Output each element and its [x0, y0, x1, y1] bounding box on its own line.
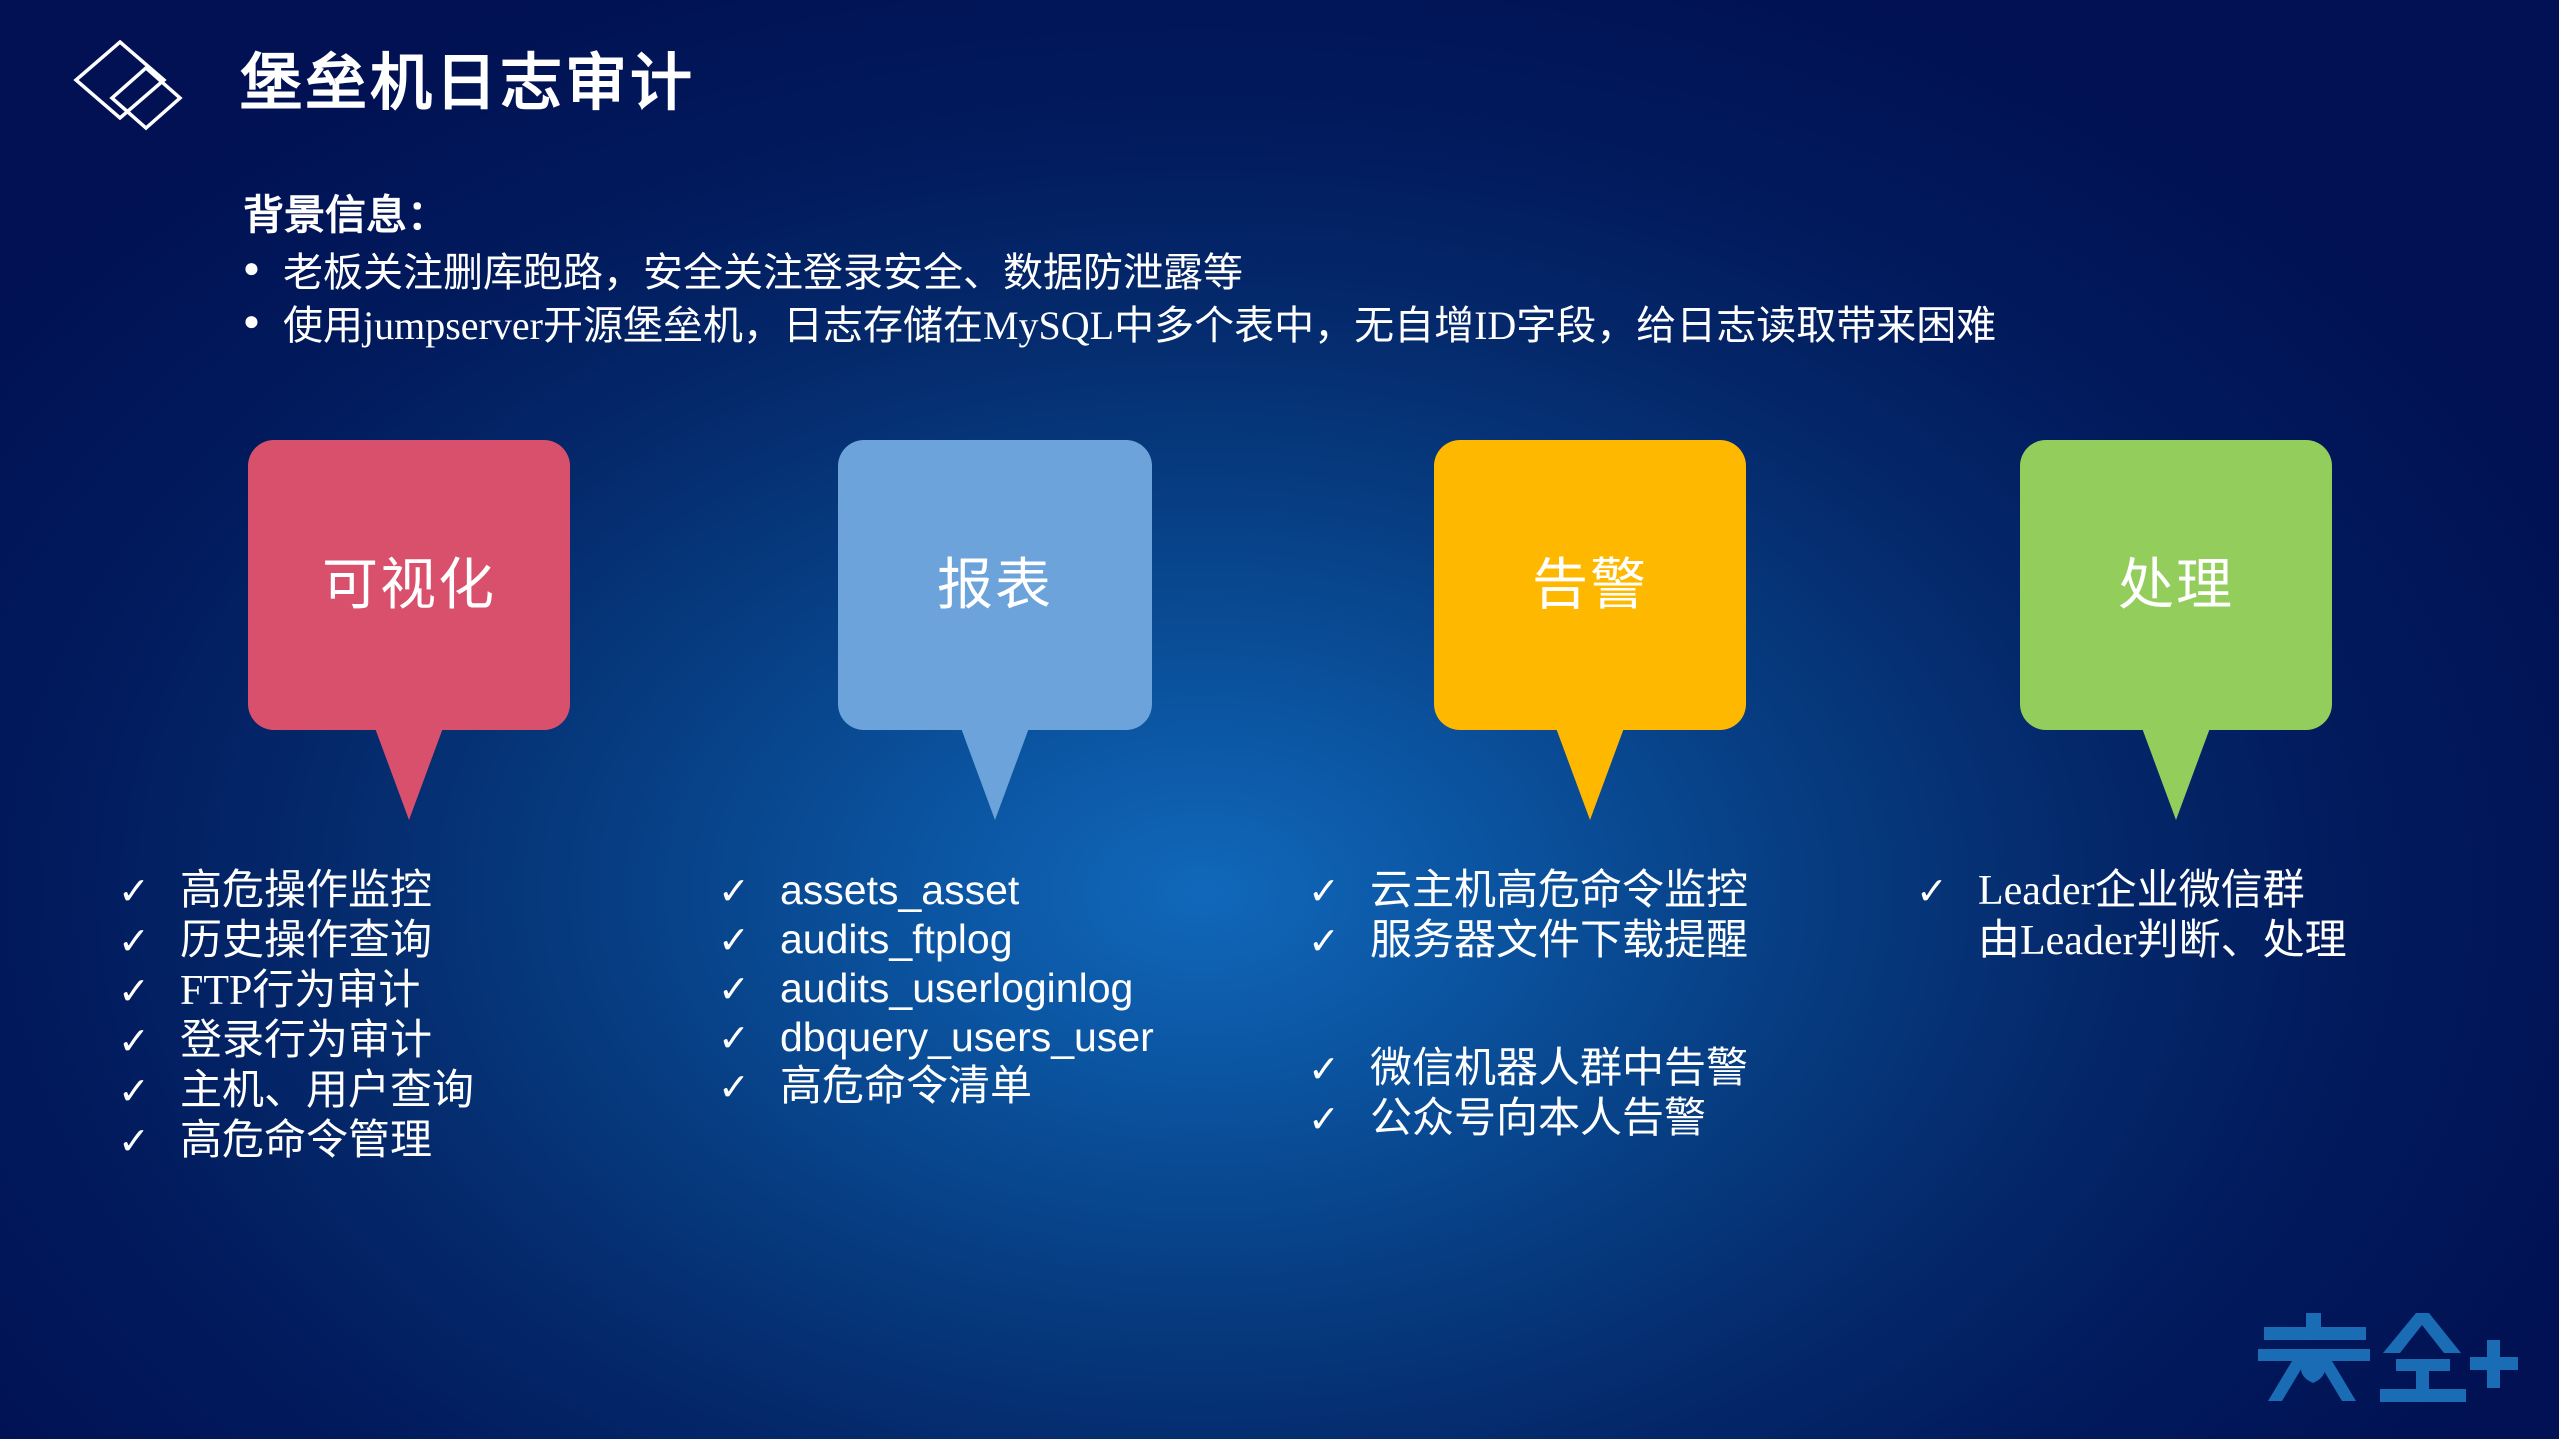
list-item: ✓登录行为审计 — [118, 1018, 474, 1065]
background-bullet-1-text: 老板关注删库跑路，安全关注登录安全、数据防泄露等 — [283, 247, 1243, 298]
check-icon: ✓ — [1916, 873, 1978, 911]
checklist-column-visualization: ✓高危操作监控✓历史操作查询✓FTP行为审计✓登录行为审计✓主机、用户查询✓高危… — [118, 868, 474, 1168]
list-spacer — [1308, 968, 1748, 1046]
callout-visualization[interactable]: 可视化 — [248, 440, 570, 730]
checklist-column-report: ✓assets_asset✓audits_ftplog✓audits_userl… — [718, 868, 1154, 1114]
list-item: ✓高危命令清单 — [718, 1064, 1154, 1111]
check-icon: ✓ — [118, 973, 180, 1011]
list-item-label: 服务器文件下载提醒 — [1370, 918, 1748, 965]
list-item: ✓audits_userloginlog — [718, 966, 1154, 1012]
check-icon: ✓ — [718, 1069, 780, 1107]
page-title: 堡垒机日志审计 — [240, 53, 695, 115]
check-icon: ✓ — [718, 971, 780, 1009]
background-info-block: 背景信息： ● 老板关注删库跑路，安全关注登录安全、数据防泄露等 ● 使用jum… — [243, 190, 2483, 354]
callout-alert[interactable]: 告警 — [1434, 440, 1746, 730]
list-item: ✓assets_asset — [718, 868, 1154, 914]
list-item-label: 高危命令清单 — [780, 1064, 1032, 1111]
callout-report-label: 报表 — [937, 557, 1053, 613]
callout-alert-label: 告警 — [1532, 557, 1648, 613]
list-item-label: 云主机高危命令监控 — [1370, 868, 1748, 915]
background-info-title: 背景信息： — [243, 190, 2483, 241]
background-bullet-2: ● 使用jumpserver开源堡垒机，日志存储在MySQL中多个表中，无自增I… — [243, 300, 2483, 351]
list-item: ✓由Leader判断、处理 — [1916, 918, 2347, 965]
check-icon: ✓ — [118, 1023, 180, 1061]
list-item-label: 高危命令管理 — [180, 1118, 432, 1165]
list-item: ✓历史操作查询 — [118, 918, 474, 965]
bullet-dot-icon: ● — [243, 300, 283, 343]
check-icon: ✓ — [118, 873, 180, 911]
list-item: ✓公众号向本人告警 — [1308, 1096, 1748, 1143]
list-item: ✓主机、用户查询 — [118, 1068, 474, 1115]
callout-visualization-body: 可视化 — [248, 440, 570, 730]
check-icon: ✓ — [718, 873, 780, 911]
callout-handling[interactable]: 处理 — [2020, 440, 2332, 730]
list-item-label: 微信机器人群中告警 — [1370, 1046, 1748, 1093]
checklist-column-handling: ✓Leader企业微信群✓由Leader判断、处理 — [1916, 868, 2347, 968]
callout-visualization-label: 可视化 — [322, 557, 496, 613]
list-item: ✓audits_ftplog — [718, 917, 1154, 963]
callout-row: 可视化 报表 告警 处理 — [0, 440, 2559, 820]
list-item-label: audits_ftplog — [780, 917, 1013, 963]
list-item: ✓dbquery_users_user — [718, 1015, 1154, 1061]
list-item: ✓云主机高危命令监控 — [1308, 868, 1748, 915]
anquan-plus-watermark-icon — [2256, 1297, 2521, 1417]
callout-report-body: 报表 — [838, 440, 1152, 730]
check-icon: ✓ — [718, 922, 780, 960]
list-item: ✓Leader企业微信群 — [1916, 868, 2347, 915]
background-bullet-1: ● 老板关注删库跑路，安全关注登录安全、数据防泄露等 — [243, 247, 2483, 298]
slide-header: 堡垒机日志审计 — [70, 28, 695, 140]
check-icon: ✓ — [1308, 873, 1370, 911]
list-item-label: 历史操作查询 — [180, 918, 432, 965]
callout-visualization-tail — [375, 728, 443, 820]
check-icon: ✓ — [718, 1020, 780, 1058]
callout-handling-body: 处理 — [2020, 440, 2332, 730]
bullet-dot-icon: ● — [243, 247, 283, 290]
check-icon-placeholder: ✓ — [1916, 923, 1978, 961]
double-diamond-logo-icon — [70, 28, 198, 140]
callout-handling-tail — [2142, 728, 2210, 820]
list-item-label: 公众号向本人告警 — [1370, 1096, 1706, 1143]
callout-alert-body: 告警 — [1434, 440, 1746, 730]
check-icon: ✓ — [118, 923, 180, 961]
list-item-label: 高危操作监控 — [180, 868, 432, 915]
list-item: ✓微信机器人群中告警 — [1308, 1046, 1748, 1093]
list-item-label: Leader企业微信群 — [1978, 868, 2305, 915]
check-icon: ✓ — [1308, 923, 1370, 961]
checklist-column-alert: ✓云主机高危命令监控✓服务器文件下载提醒✓微信机器人群中告警✓公众号向本人告警 — [1308, 868, 1748, 1146]
list-item-label: 由Leader判断、处理 — [1978, 918, 2347, 965]
list-item-label: audits_userloginlog — [780, 966, 1133, 1012]
list-item: ✓高危命令管理 — [118, 1118, 474, 1165]
check-icon: ✓ — [118, 1073, 180, 1111]
list-item-label: assets_asset — [780, 868, 1019, 914]
list-item-label: 主机、用户查询 — [180, 1068, 474, 1115]
list-item: ✓FTP行为审计 — [118, 968, 474, 1015]
list-item: ✓高危操作监控 — [118, 868, 474, 915]
background-bullet-2-text: 使用jumpserver开源堡垒机，日志存储在MySQL中多个表中，无自增ID字… — [283, 300, 1996, 351]
check-icon: ✓ — [1308, 1101, 1370, 1139]
check-icon: ✓ — [1308, 1051, 1370, 1089]
slide-canvas: 堡垒机日志审计 背景信息： ● 老板关注删库跑路，安全关注登录安全、数据防泄露等… — [0, 0, 2559, 1439]
list-item-label: 登录行为审计 — [180, 1018, 432, 1065]
check-icon: ✓ — [118, 1123, 180, 1161]
list-item-label: dbquery_users_user — [780, 1015, 1154, 1061]
callout-alert-tail — [1556, 728, 1624, 820]
callout-report[interactable]: 报表 — [838, 440, 1152, 730]
callout-handling-label: 处理 — [2118, 557, 2234, 613]
list-item: ✓服务器文件下载提醒 — [1308, 918, 1748, 965]
list-item-label: FTP行为审计 — [180, 968, 420, 1015]
callout-report-tail — [961, 728, 1029, 820]
